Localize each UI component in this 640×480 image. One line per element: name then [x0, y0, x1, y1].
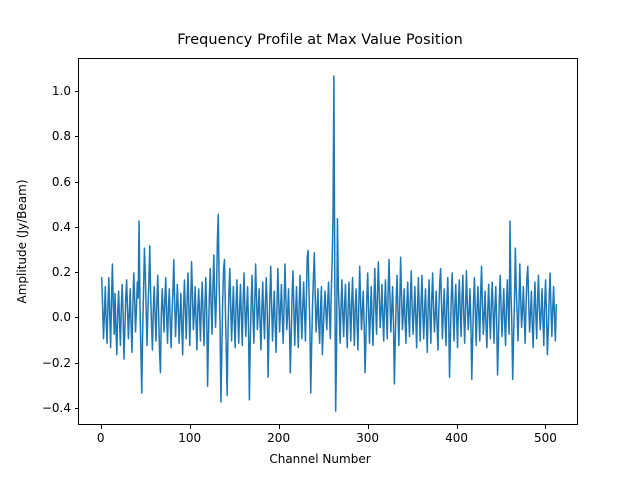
x-tick-mark	[279, 425, 280, 429]
plot-axes-area	[78, 58, 578, 425]
x-tick-label: 0	[97, 431, 105, 445]
figure-canvas: Frequency Profile at Max Value Position …	[0, 0, 640, 480]
x-tick-mark	[457, 425, 458, 429]
x-tick-mark	[368, 425, 369, 429]
x-axis-label: Channel Number	[0, 452, 640, 466]
y-tick-mark	[75, 408, 79, 409]
y-tick-mark	[75, 182, 79, 183]
chart-title: Frequency Profile at Max Value Position	[0, 32, 640, 48]
y-tick-label: −0.4	[42, 401, 71, 415]
y-tick-mark	[75, 227, 79, 228]
x-tick-label: 100	[178, 431, 201, 445]
y-tick-label: 0.4	[52, 220, 71, 234]
y-tick-mark	[75, 363, 79, 364]
x-tick-label: 200	[267, 431, 290, 445]
line-series-frequency-profile	[79, 59, 578, 425]
x-tick-mark	[545, 425, 546, 429]
y-tick-mark	[75, 91, 79, 92]
y-tick-label: 1.0	[52, 84, 71, 98]
y-tick-label: −0.2	[42, 356, 71, 370]
y-tick-label: 0.8	[52, 129, 71, 143]
y-tick-mark	[75, 317, 79, 318]
x-tick-label: 300	[356, 431, 379, 445]
y-tick-label: 0.0	[52, 310, 71, 324]
y-tick-mark	[75, 136, 79, 137]
x-tick-label: 400	[445, 431, 468, 445]
y-tick-label: 0.2	[52, 265, 71, 279]
y-tick-mark	[75, 272, 79, 273]
y-axis-label: Amplitude (Jy/Beam)	[14, 58, 30, 425]
y-tick-label: 0.6	[52, 175, 71, 189]
x-tick-label: 500	[534, 431, 557, 445]
x-tick-mark	[190, 425, 191, 429]
x-tick-mark	[101, 425, 102, 429]
